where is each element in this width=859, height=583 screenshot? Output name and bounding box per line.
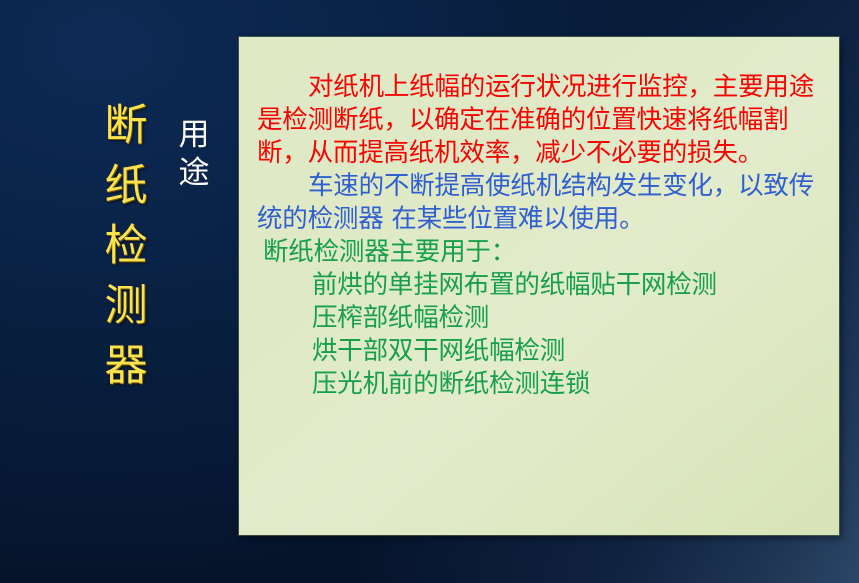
slide-vertical-subtitle: 用 途 [172,116,216,192]
list-item-application-2: 压榨部纸幅检测 [257,302,821,335]
vertical-title-char-4: 测 [96,276,156,336]
slide-canvas: 断 纸 检 测 器 用 途 对纸机上纸幅的运行状况进行监控，主要用途是检测断纸，… [0,0,859,583]
vertical-title-char-3: 检 [96,216,156,276]
content-panel: 对纸机上纸幅的运行状况进行监控，主要用途是检测断纸，以确定在准确的位置快速将纸幅… [239,37,839,535]
list-item-application-3: 烘干部双干网纸幅检测 [257,335,821,368]
list-item-application-1: 前烘的单挂网布置的纸幅贴干网检测 [257,269,821,302]
paragraph-speed-blue: 车速的不断提高使纸机结构发生变化，以致传统的检测器 在某些位置难以使用。 [257,170,821,236]
slide-vertical-title: 断 纸 检 测 器 [96,96,156,396]
vertical-title-char-5: 器 [96,336,156,396]
vertical-title-char-2: 纸 [96,156,156,216]
paragraph-purpose-red: 对纸机上纸幅的运行状况进行监控，主要用途是检测断纸，以确定在准确的位置快速将纸幅… [257,71,821,170]
list-item-application-4: 压光机前的断纸检测连锁 [257,368,821,401]
paragraph-applications-heading: 断纸检测器主要用于： [257,236,821,269]
vertical-title-char-1: 断 [96,96,156,156]
vertical-subtitle-char-2: 途 [172,154,216,192]
vertical-subtitle-char-1: 用 [172,116,216,154]
